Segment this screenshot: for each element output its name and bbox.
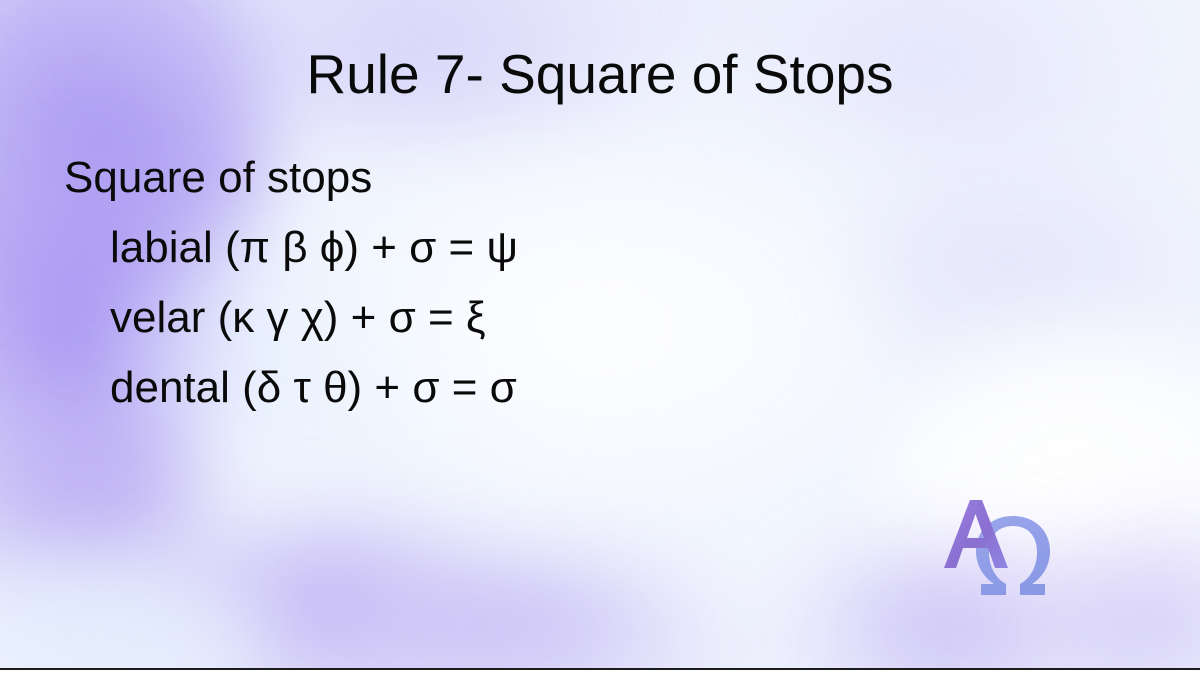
- rule-line-velar: velar (κ γ χ) + σ = ξ: [110, 292, 1064, 344]
- alpha-omega-logo: [932, 492, 1072, 604]
- rule-line-labial: labial (π β ϕ) + σ = ψ: [110, 222, 1064, 274]
- slide-canvas: Rule 7- Square of Stops Square of stops …: [0, 0, 1200, 669]
- background-wash-bottom-left: [120, 520, 540, 669]
- rule-line-dental: dental (δ τ θ) + σ = σ: [110, 362, 1064, 414]
- slide-bottom-strip: [0, 670, 1200, 675]
- alpha-glyph: [944, 500, 1008, 568]
- background-wash-left-lower: [0, 400, 220, 669]
- background-wash-bottom-center: [330, 560, 750, 669]
- slide-body: Square of stops labial (π β ϕ) + σ = ψ v…: [64, 152, 1064, 414]
- background-wash-bottom-left-blue: [0, 560, 260, 669]
- body-heading: Square of stops: [64, 152, 1064, 204]
- presentation-slide: Rule 7- Square of Stops Square of stops …: [0, 0, 1200, 675]
- page-title: Rule 7- Square of Stops: [0, 42, 1200, 106]
